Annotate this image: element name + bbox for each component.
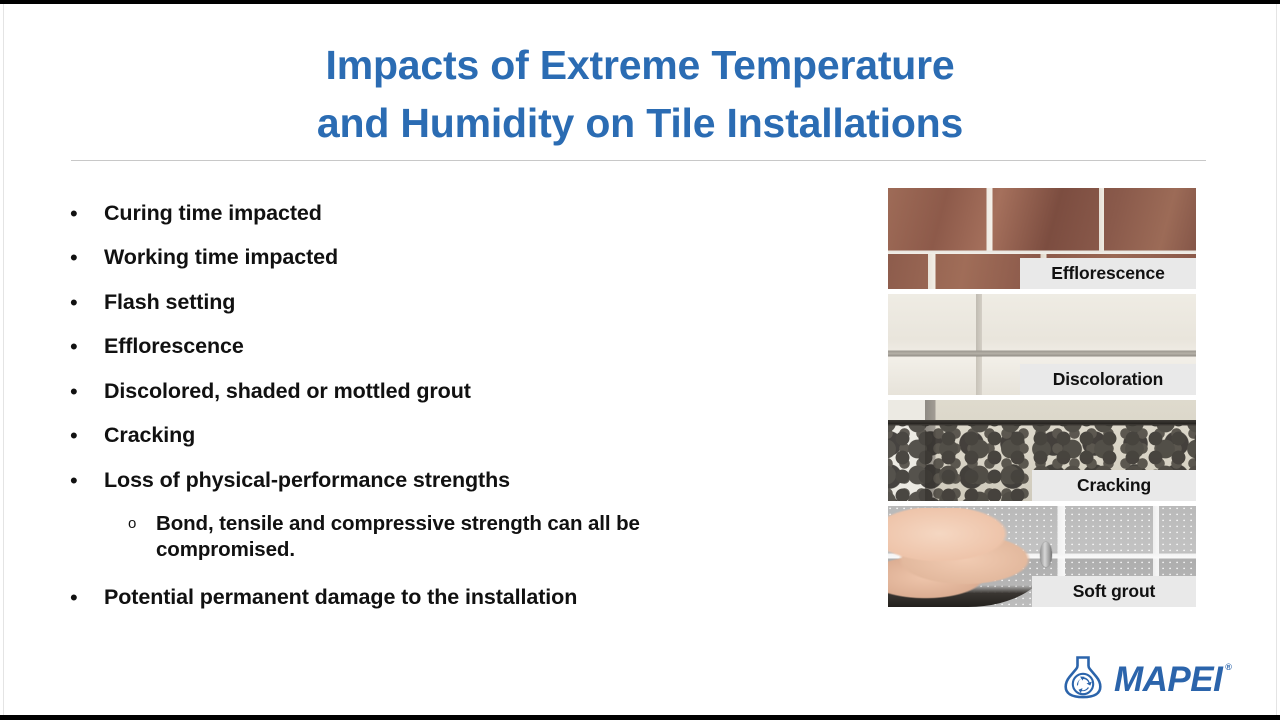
list-item-label: Loss of physical-performance strengths bbox=[104, 467, 840, 495]
hand-shape bbox=[888, 508, 1050, 607]
bullet-marker-icon: • bbox=[70, 200, 104, 228]
mapei-wordmark: MAPEI ® bbox=[1114, 662, 1222, 697]
photo-panel-efflorescence: Efflorescence bbox=[888, 188, 1196, 289]
list-item-label: Cracking bbox=[104, 422, 840, 450]
sub-list-item-label: Bond, tensile and compressive strength c… bbox=[156, 511, 656, 563]
bullet-marker-icon: • bbox=[70, 584, 104, 612]
list-item: • Curing time impacted bbox=[70, 200, 840, 228]
slide-right-border bbox=[1276, 4, 1277, 715]
bullet-marker-icon: • bbox=[70, 422, 104, 450]
bullet-marker-icon: • bbox=[70, 467, 104, 495]
slide-title: Impacts of Extreme Temperature and Humid… bbox=[70, 36, 1210, 152]
list-item: • Efflorescence bbox=[70, 333, 840, 361]
list-item: • Working time impacted bbox=[70, 244, 840, 272]
photo-panel-cracking: Cracking bbox=[888, 400, 1196, 501]
list-item-label: Efflorescence bbox=[104, 333, 840, 361]
list-item-label: Potential permanent damage to the instal… bbox=[104, 584, 840, 612]
list-item: • Cracking bbox=[70, 422, 840, 450]
title-divider bbox=[71, 160, 1206, 161]
list-item-label: Discolored, shaded or mottled grout bbox=[104, 378, 840, 406]
slide-title-line-1: Impacts of Extreme Temperature bbox=[70, 36, 1210, 94]
photo-caption: Efflorescence bbox=[1020, 258, 1196, 289]
list-item: • Potential permanent damage to the inst… bbox=[70, 584, 840, 612]
slide-title-line-2: and Humidity on Tile Installations bbox=[70, 94, 1210, 152]
slide-canvas: Impacts of Extreme Temperature and Humid… bbox=[0, 4, 1280, 715]
photo-caption: Soft grout bbox=[1032, 576, 1196, 607]
bullet-marker-icon: • bbox=[70, 378, 104, 406]
bullet-marker-icon: • bbox=[70, 289, 104, 317]
list-item: • Loss of physical-performance strengths bbox=[70, 467, 840, 495]
list-item-label: Working time impacted bbox=[104, 244, 840, 272]
list-item: • Flash setting bbox=[70, 289, 840, 317]
mapei-logo: MAPEI ® bbox=[1061, 654, 1251, 704]
photo-caption: Discoloration bbox=[1020, 364, 1196, 395]
bullet-list: • Curing time impacted • Working time im… bbox=[70, 200, 840, 628]
mapei-wordmark-text: MAPEI bbox=[1114, 660, 1222, 699]
photo-caption: Cracking bbox=[1032, 470, 1196, 501]
list-item-label: Curing time impacted bbox=[104, 200, 840, 228]
bullet-marker-icon: • bbox=[70, 333, 104, 361]
bullet-marker-icon: • bbox=[70, 244, 104, 272]
sub-bullet-marker-icon: o bbox=[128, 511, 156, 537]
photo-panel-stack: Efflorescence Discoloration Cracking Sof… bbox=[888, 188, 1196, 612]
slide-left-border bbox=[3, 4, 4, 715]
mapei-flask-swirl-icon bbox=[1061, 654, 1105, 705]
list-item-label: Flash setting bbox=[104, 289, 840, 317]
list-item: • Discolored, shaded or mottled grout bbox=[70, 378, 840, 406]
sub-list-item: o Bond, tensile and compressive strength… bbox=[70, 511, 840, 563]
photo-panel-soft-grout: Soft grout bbox=[888, 506, 1196, 607]
coin-shape bbox=[1040, 542, 1052, 567]
photo-panel-discoloration: Discoloration bbox=[888, 294, 1196, 395]
registered-trademark-icon: ® bbox=[1225, 663, 1231, 672]
